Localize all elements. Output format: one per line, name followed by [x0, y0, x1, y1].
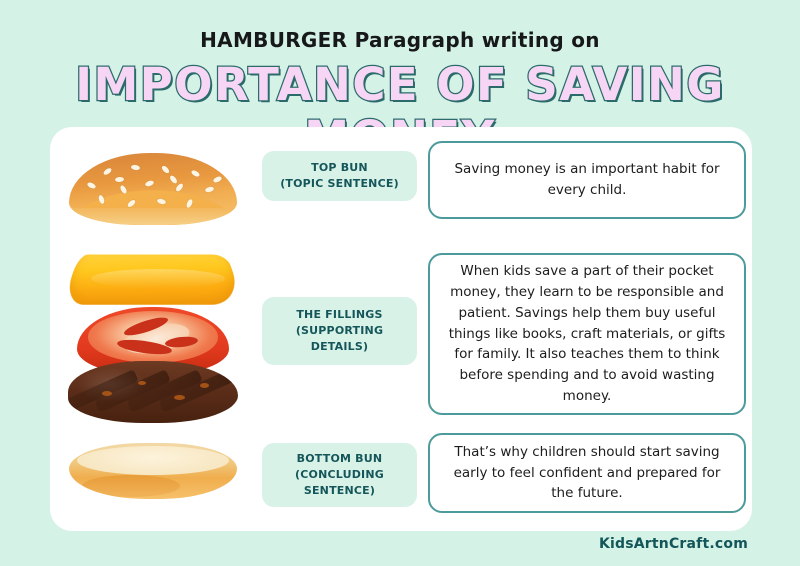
badge-fillings-line1: THE FILLINGS [296, 307, 383, 323]
content-card: TOP BUN (TOPIC SENTENCE) Saving money is… [50, 127, 752, 531]
bun-top-icon [69, 153, 237, 225]
site-watermark: KidsArtnCraft.com [599, 536, 748, 552]
textbox-concluding-sentence: That’s why children should start saving … [428, 433, 746, 513]
row-fillings: THE FILLINGS (SUPPORTING DETAILS) When k… [50, 241, 752, 427]
textbox-supporting-details: When kids save a part of their pocket mo… [428, 253, 746, 415]
top-bun-illustration [50, 133, 256, 241]
badge-bottom-bun-line1: BOTTOM BUN [295, 451, 384, 467]
row-top-bun: TOP BUN (TOPIC SENTENCE) Saving money is… [50, 133, 752, 241]
badge-bottom-bun: BOTTOM BUN (CONCLUDING SENTENCE) [262, 443, 417, 507]
badge-bottom-bun-line3: SENTENCE) [295, 483, 384, 499]
badge-top-bun: TOP BUN (TOPIC SENTENCE) [262, 151, 417, 201]
badge-top-bun-line1: TOP BUN [280, 160, 399, 176]
row-bottom-bun: BOTTOM BUN (CONCLUDING SENTENCE) That’s … [50, 427, 752, 531]
textbox-topic-sentence: Saving money is an important habit for e… [428, 141, 746, 219]
page-header: HAMBURGER Paragraph writing on IMPORTANC… [0, 0, 800, 127]
badge-fillings-line3: DETAILS) [296, 339, 383, 355]
beef-patty-icon [68, 361, 238, 423]
fillings-illustration [50, 241, 256, 427]
page-subtitle: HAMBURGER Paragraph writing on [0, 28, 800, 52]
cheese-slice-icon [62, 254, 244, 304]
badge-bottom-bun-line2: (CONCLUDING [295, 467, 384, 483]
badge-fillings-line2: (SUPPORTING [296, 323, 383, 339]
bun-bottom-icon [69, 443, 237, 499]
bottom-bun-illustration [50, 427, 256, 531]
badge-fillings: THE FILLINGS (SUPPORTING DETAILS) [262, 297, 417, 365]
badge-top-bun-line2: (TOPIC SENTENCE) [280, 176, 399, 192]
